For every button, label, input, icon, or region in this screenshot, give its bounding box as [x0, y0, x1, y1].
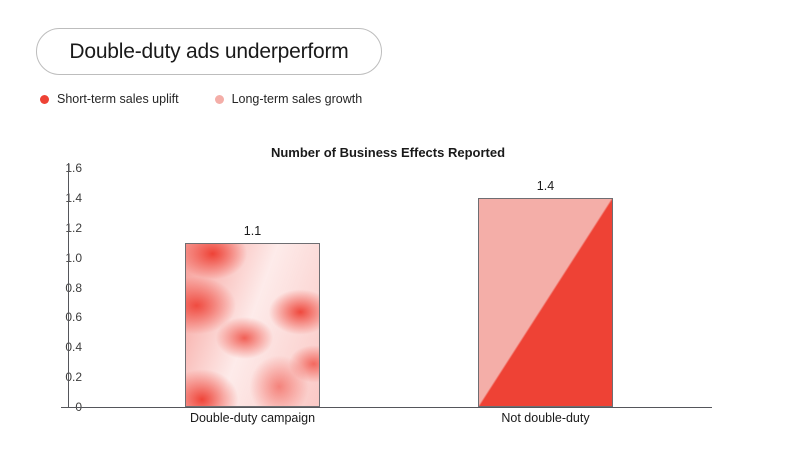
bar-not-double-duty[interactable] [478, 198, 613, 407]
x-category-label: Not double-duty [440, 411, 651, 425]
x-axis-line [68, 407, 712, 408]
y-tick-label: 1.6 [42, 161, 82, 175]
y-axis-zero-tick [61, 407, 69, 408]
y-tick-label: 0.8 [42, 281, 82, 295]
chart-title: Number of Business Effects Reported [0, 145, 776, 160]
y-tick-label: 0.6 [42, 310, 82, 324]
y-axis-line [68, 163, 69, 408]
bar-value-label: 1.4 [478, 179, 613, 193]
bar-chart: Number of Business Effects Reported 1.6 … [0, 0, 794, 457]
y-tick-label: 1.4 [42, 191, 82, 205]
y-tick-label: 1.2 [42, 221, 82, 235]
bar-value-label: 1.1 [185, 224, 320, 238]
y-tick-label: 0.4 [42, 340, 82, 354]
y-tick-label: 0.2 [42, 370, 82, 384]
bar-double-duty-campaign[interactable] [185, 243, 320, 407]
x-category-label: Double-duty campaign [147, 411, 358, 425]
y-tick-label: 1.0 [42, 251, 82, 265]
